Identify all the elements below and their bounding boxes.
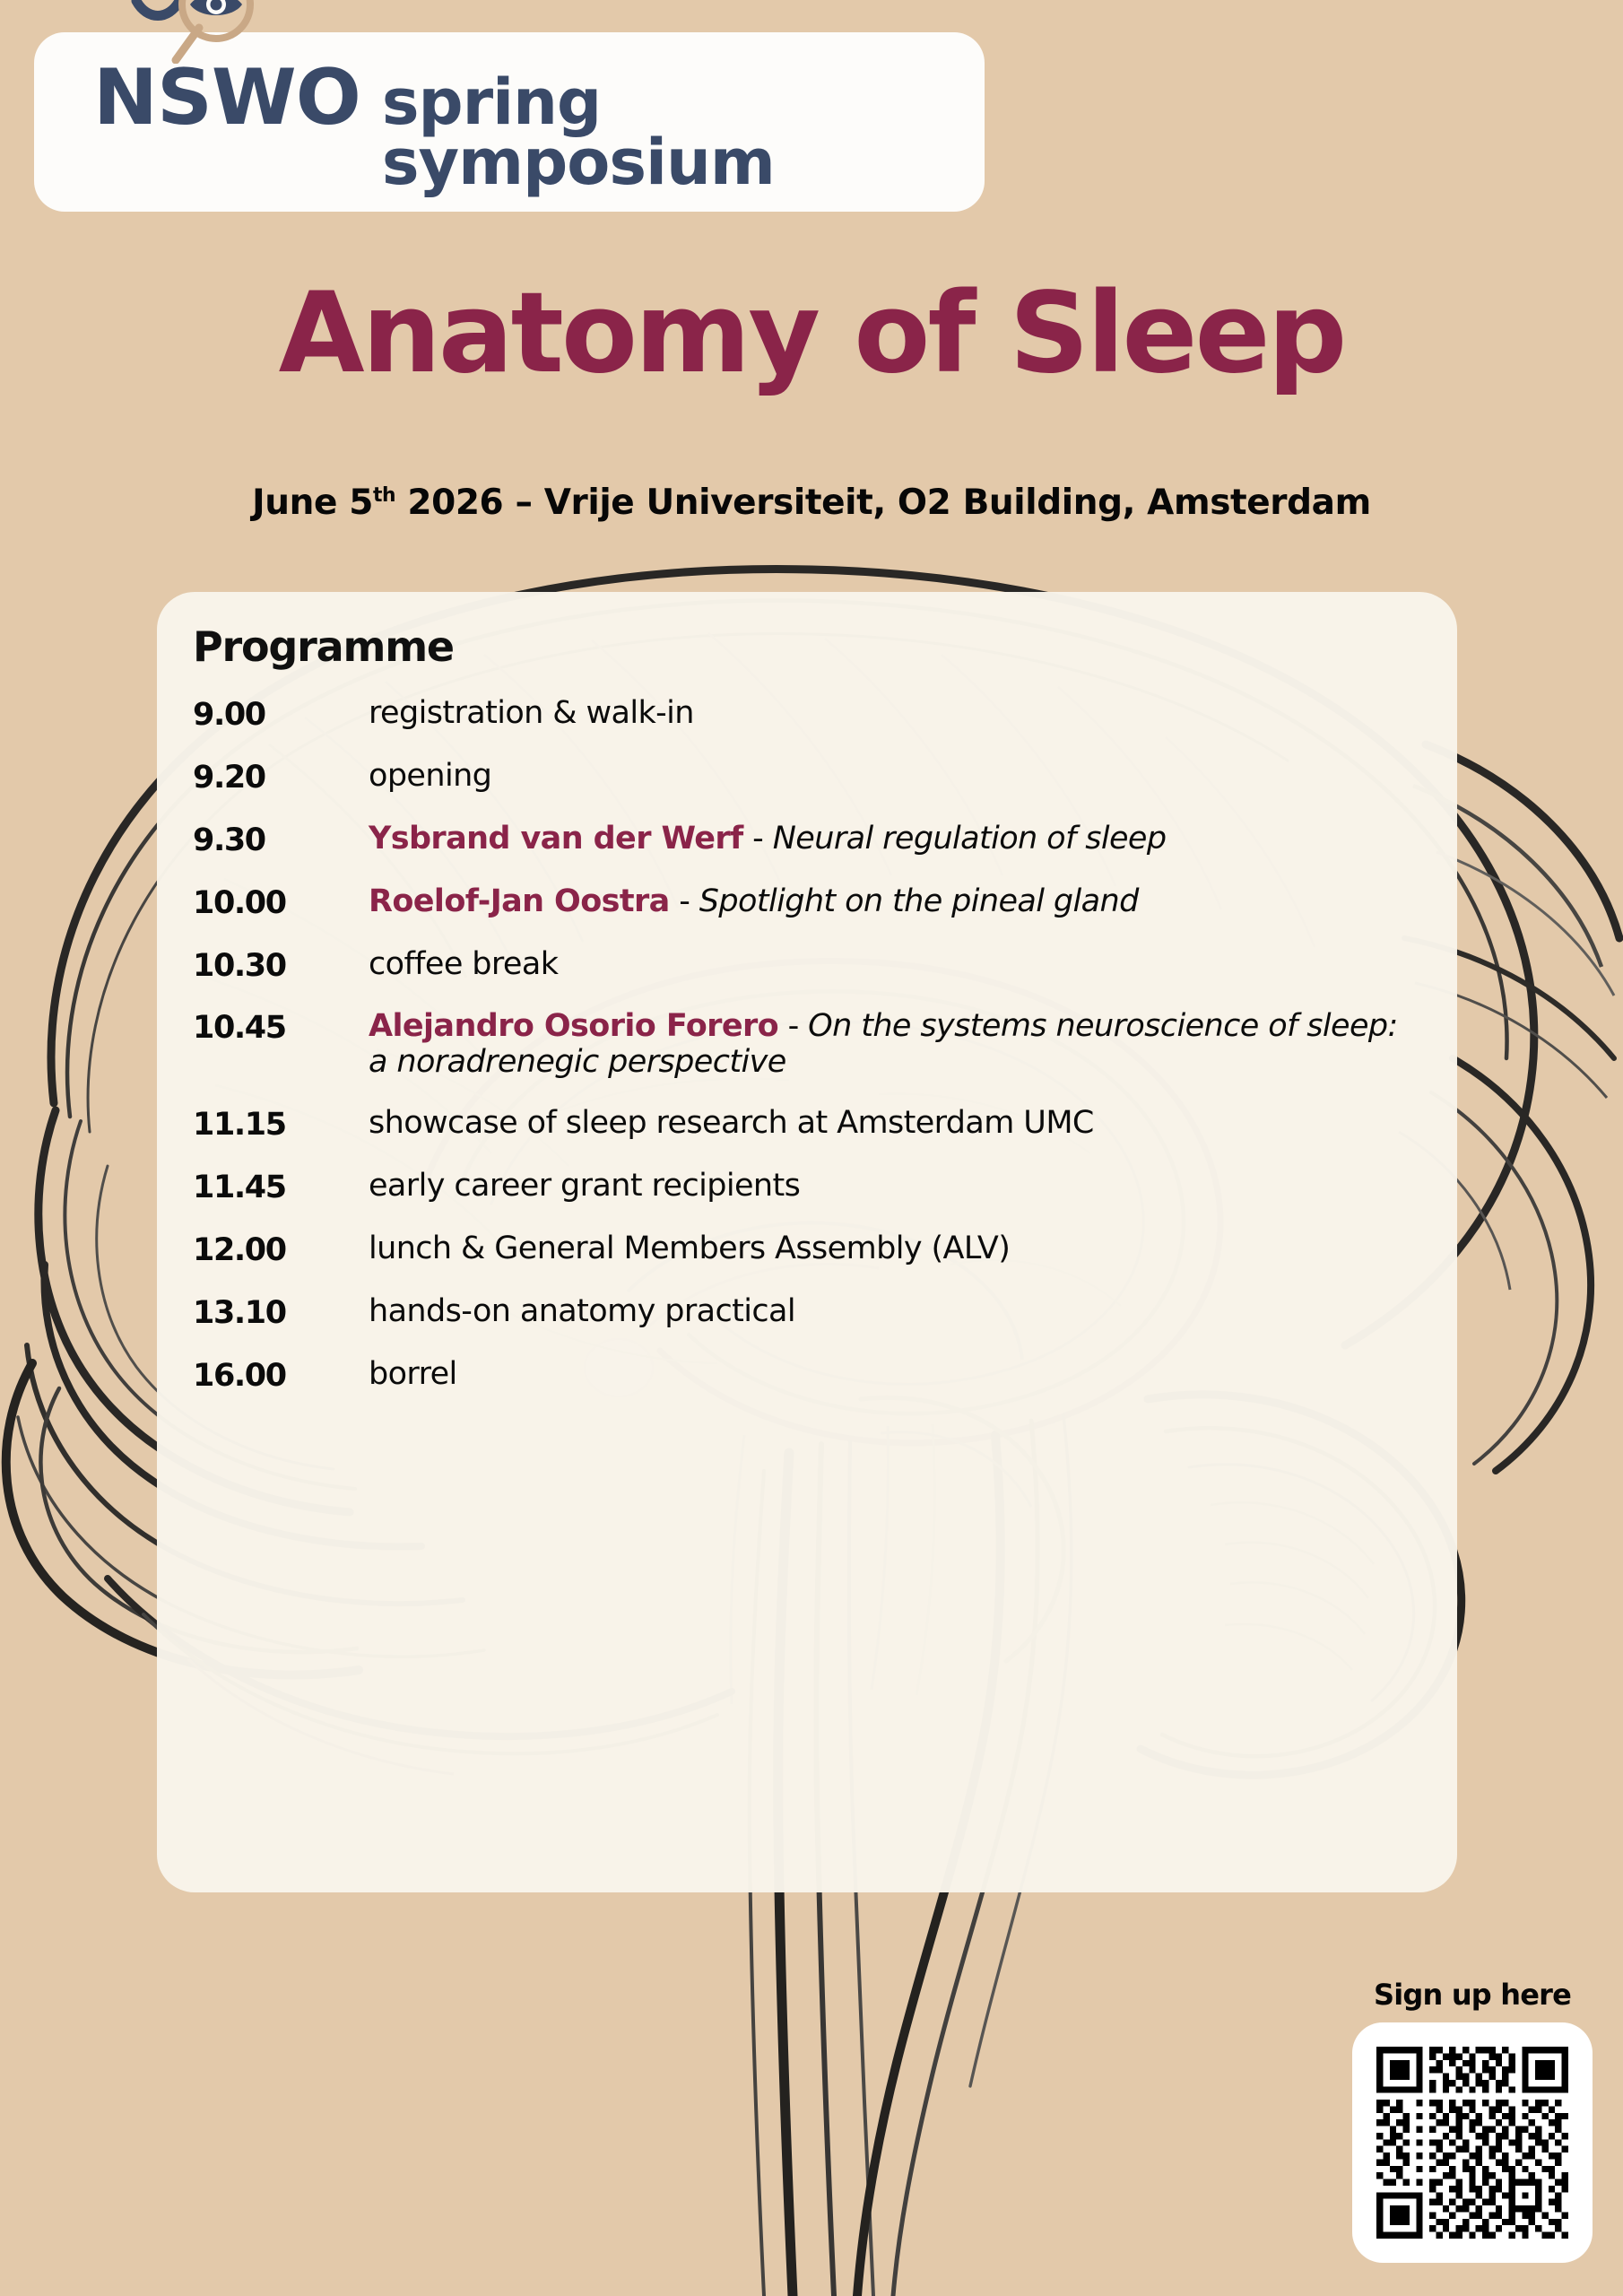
row-body: Roelof-Jan Oostra - Spotlight on the pin…: [369, 884, 1412, 920]
date-ordinal: th: [373, 484, 395, 507]
schedule-row: 10.30 coffee break: [193, 947, 1412, 985]
schedule-row: 9.00 registration & walk-in: [193, 696, 1412, 734]
schedule-row: 12.00 lunch & General Members Assembly (…: [193, 1231, 1412, 1269]
schedule-row: 11.45 early career grant recipients: [193, 1169, 1412, 1206]
row-speaker: Alejandro Osorio Forero: [369, 1008, 778, 1044]
logo-brand: NSWO: [93, 62, 360, 135]
row-body: borrel: [369, 1357, 1412, 1393]
row-body: early career grant recipients: [369, 1169, 1412, 1205]
row-speaker: Ysbrand van der Werf: [369, 821, 743, 857]
row-text: lunch & General Members Assembly (ALV): [369, 1231, 1010, 1266]
row-text: coffee break: [369, 946, 558, 982]
row-dash: -: [743, 821, 773, 857]
row-time: 9.30: [193, 822, 369, 859]
row-speaker: Roelof-Jan Oostra: [369, 883, 670, 919]
row-body: hands-on anatomy practical: [369, 1294, 1412, 1330]
date-prefix: June 5: [252, 483, 373, 523]
row-text: early career grant recipients: [369, 1168, 800, 1204]
row-dash: -: [670, 883, 699, 919]
row-body: lunch & General Members Assembly (ALV): [369, 1231, 1412, 1267]
row-time: 10.30: [193, 947, 369, 985]
row-body: showcase of sleep research at Amsterdam …: [369, 1106, 1412, 1142]
row-time: 10.45: [193, 1009, 369, 1047]
programme-card: Programme 9.00 registration & walk-in 9.…: [157, 592, 1457, 1892]
schedule-row: 10.00 Roelof-Jan Oostra - Spotlight on t…: [193, 884, 1412, 922]
row-body: Alejandro Osorio Forero - On the systems…: [369, 1009, 1412, 1081]
qr-card[interactable]: [1352, 2022, 1593, 2263]
row-talk: Neural regulation of sleep: [773, 821, 1167, 857]
row-text: registration & walk-in: [369, 695, 694, 731]
row-body: registration & walk-in: [369, 696, 1412, 732]
signup-label: Sign up here: [1352, 1978, 1593, 2012]
schedule-row: 11.15 showcase of sleep research at Amst…: [193, 1106, 1412, 1144]
row-time: 11.45: [193, 1169, 369, 1206]
schedule-row: 9.30 Ysbrand van der Werf - Neural regul…: [193, 822, 1412, 859]
event-date-location: June 5th 2026 – Vrije Universiteit, O2 B…: [0, 483, 1623, 523]
schedule-row: 13.10 hands-on anatomy practical: [193, 1294, 1412, 1332]
row-time: 12.00: [193, 1231, 369, 1269]
row-text: hands-on anatomy practical: [369, 1293, 795, 1329]
schedule-row: 10.45 Alejandro Osorio Forero - On the s…: [193, 1009, 1412, 1081]
qr-code[interactable]: [1376, 2047, 1568, 2239]
row-text: showcase of sleep research at Amsterdam …: [369, 1105, 1094, 1141]
schedule-row: 16.00 borrel: [193, 1357, 1412, 1395]
row-talk: Spotlight on the pineal gland: [699, 883, 1139, 919]
row-body: Ysbrand van der Werf - Neural regulation…: [369, 822, 1412, 857]
row-body: coffee break: [369, 947, 1412, 983]
row-time: 11.15: [193, 1106, 369, 1144]
row-time: 10.00: [193, 884, 369, 922]
row-text: opening: [369, 758, 491, 794]
date-suffix: 2026 – Vrije Universiteit, O2 Building, …: [395, 483, 1371, 523]
signup-block: Sign up here: [1352, 1978, 1593, 2263]
row-time: 16.00: [193, 1357, 369, 1395]
schedule-row: 9.20 opening: [193, 759, 1412, 796]
eye-magnifier-icon: [124, 0, 258, 64]
row-dash: -: [778, 1008, 808, 1044]
row-time: 9.00: [193, 696, 369, 734]
logo-tagline: spring symposium: [382, 73, 985, 192]
page-title: Anatomy of Sleep: [0, 269, 1623, 398]
row-time: 13.10: [193, 1294, 369, 1332]
programme-heading: Programme: [193, 622, 1412, 671]
row-text: borrel: [369, 1356, 457, 1392]
row-body: opening: [369, 759, 1412, 795]
nswo-logo-card: NSWO spring symposium: [34, 32, 985, 212]
row-time: 9.20: [193, 759, 369, 796]
